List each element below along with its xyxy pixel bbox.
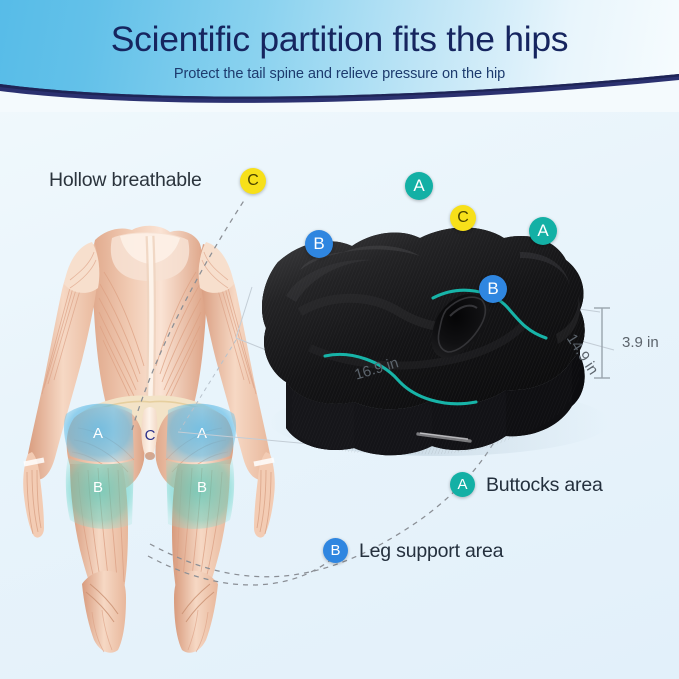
cushion-badge-b-1[interactable]: B <box>305 230 333 258</box>
hollow-breathable-badge[interactable]: C <box>240 168 266 194</box>
badge-letter: B <box>487 279 498 299</box>
legend-badge-b[interactable]: B <box>323 538 348 563</box>
hollow-breathable-label: Hollow breathable <box>49 169 202 192</box>
dimension-height-label: 3.9 in <box>622 334 659 351</box>
page-subtitle: Protect the tail spine and relieve press… <box>0 64 679 84</box>
legend-label-buttocks: Buttocks area <box>486 474 603 497</box>
header-banner: Scientific partition fits the hips Prote… <box>0 0 679 112</box>
legend-badge-a[interactable]: A <box>450 472 475 497</box>
badge-letter: A <box>537 221 548 241</box>
cushion-badge-a-2[interactable]: A <box>529 217 557 245</box>
badge-letter: C <box>247 172 259 190</box>
page-title: Scientific partition fits the hips <box>0 17 679 61</box>
badge-letter: B <box>330 542 340 559</box>
badge-letter: B <box>313 234 324 254</box>
cushion-badge-a-1[interactable]: A <box>405 172 433 200</box>
badge-letter: A <box>413 176 424 196</box>
badge-letter: C <box>457 209 469 227</box>
badge-letter: A <box>457 476 467 493</box>
cushion-badge-b-2[interactable]: B <box>479 275 507 303</box>
cushion-product-image <box>0 112 679 679</box>
main-stage: A A C B B <box>0 112 679 679</box>
infographic-page: Scientific partition fits the hips Prote… <box>0 0 679 679</box>
cushion-badge-c[interactable]: C <box>450 205 476 231</box>
legend-label-leg-support: Leg support area <box>359 540 503 563</box>
